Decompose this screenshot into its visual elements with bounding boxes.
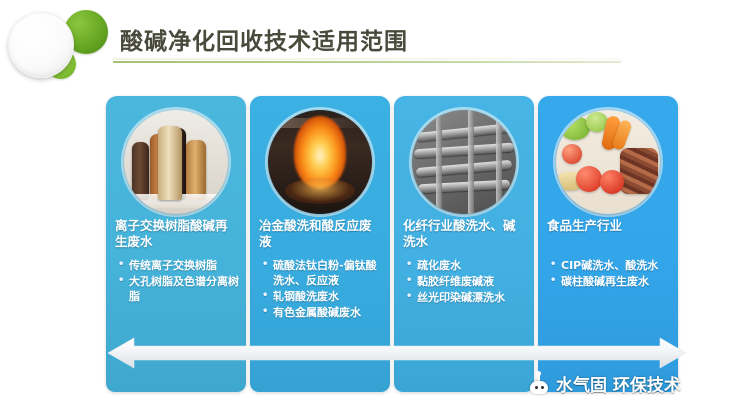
list-item: 硫酸法钛白粉-偏钛酸洗水、反应液: [262, 258, 383, 288]
ion-exchange-resin-columns-photo: [124, 110, 228, 214]
list-item: 有色金属酸碱废水: [262, 305, 383, 320]
card-photo: [412, 110, 516, 214]
watermark-text: 水气固 环保技术: [556, 371, 681, 396]
list-item: 轧钢酸洗废水: [262, 289, 383, 304]
white-circle-icon: [8, 12, 74, 78]
card-title: 化纤行业酸洗水、碱洗水: [403, 218, 526, 250]
card-bullet-list: CIP碱洗水、酸洗水 碳柱酸碱再生废水: [550, 258, 671, 290]
list-item: CIP碱洗水、酸洗水: [550, 258, 671, 273]
chemical-fiber-pipes-photo: [412, 110, 516, 214]
list-item: 碳柱酸碱再生废水: [550, 274, 671, 289]
list-item: 大孔树脂及色谱分离树脂: [118, 274, 239, 304]
card-photo: [556, 110, 660, 214]
metallurgy-molten-furnace-photo: [268, 110, 372, 214]
list-item: 黏胶纤维废碱液: [406, 274, 527, 289]
card-photo: [124, 110, 228, 214]
title-underline-highlight: [113, 58, 621, 60]
list-item: 丝光印染碱漂洗水: [406, 290, 527, 305]
panda-mascot-icon: [528, 374, 550, 394]
slide-logo: [2, 2, 108, 86]
card-title: 冶金酸洗和酸反应废液: [259, 218, 382, 250]
title-underline: [113, 61, 621, 63]
card-photo: [268, 110, 372, 214]
watermark: 水气固 环保技术: [528, 371, 681, 396]
card-title: 离子交换树脂酸碱再生废水: [115, 218, 238, 250]
card-bullet-list: 硫酸法钛白粉-偏钛酸洗水、反应液 轧钢酸洗废水 有色金属酸碱废水: [262, 258, 383, 321]
card-bullet-list: 传统离子交换树脂 大孔树脂及色谱分离树脂: [118, 258, 239, 305]
food-vegetables-photo: [556, 110, 660, 214]
double-headed-arrow: [108, 336, 686, 370]
list-item: 传统离子交换树脂: [118, 258, 239, 273]
double-arrow-icon: [108, 336, 686, 370]
card-title: 食品生产行业: [547, 218, 670, 234]
list-item: 疏化废水: [406, 258, 527, 273]
page-title: 酸碱净化回收技术适用范围: [120, 22, 408, 56]
card-bullet-list: 疏化废水 黏胶纤维废碱液 丝光印染碱漂洗水: [406, 258, 527, 306]
